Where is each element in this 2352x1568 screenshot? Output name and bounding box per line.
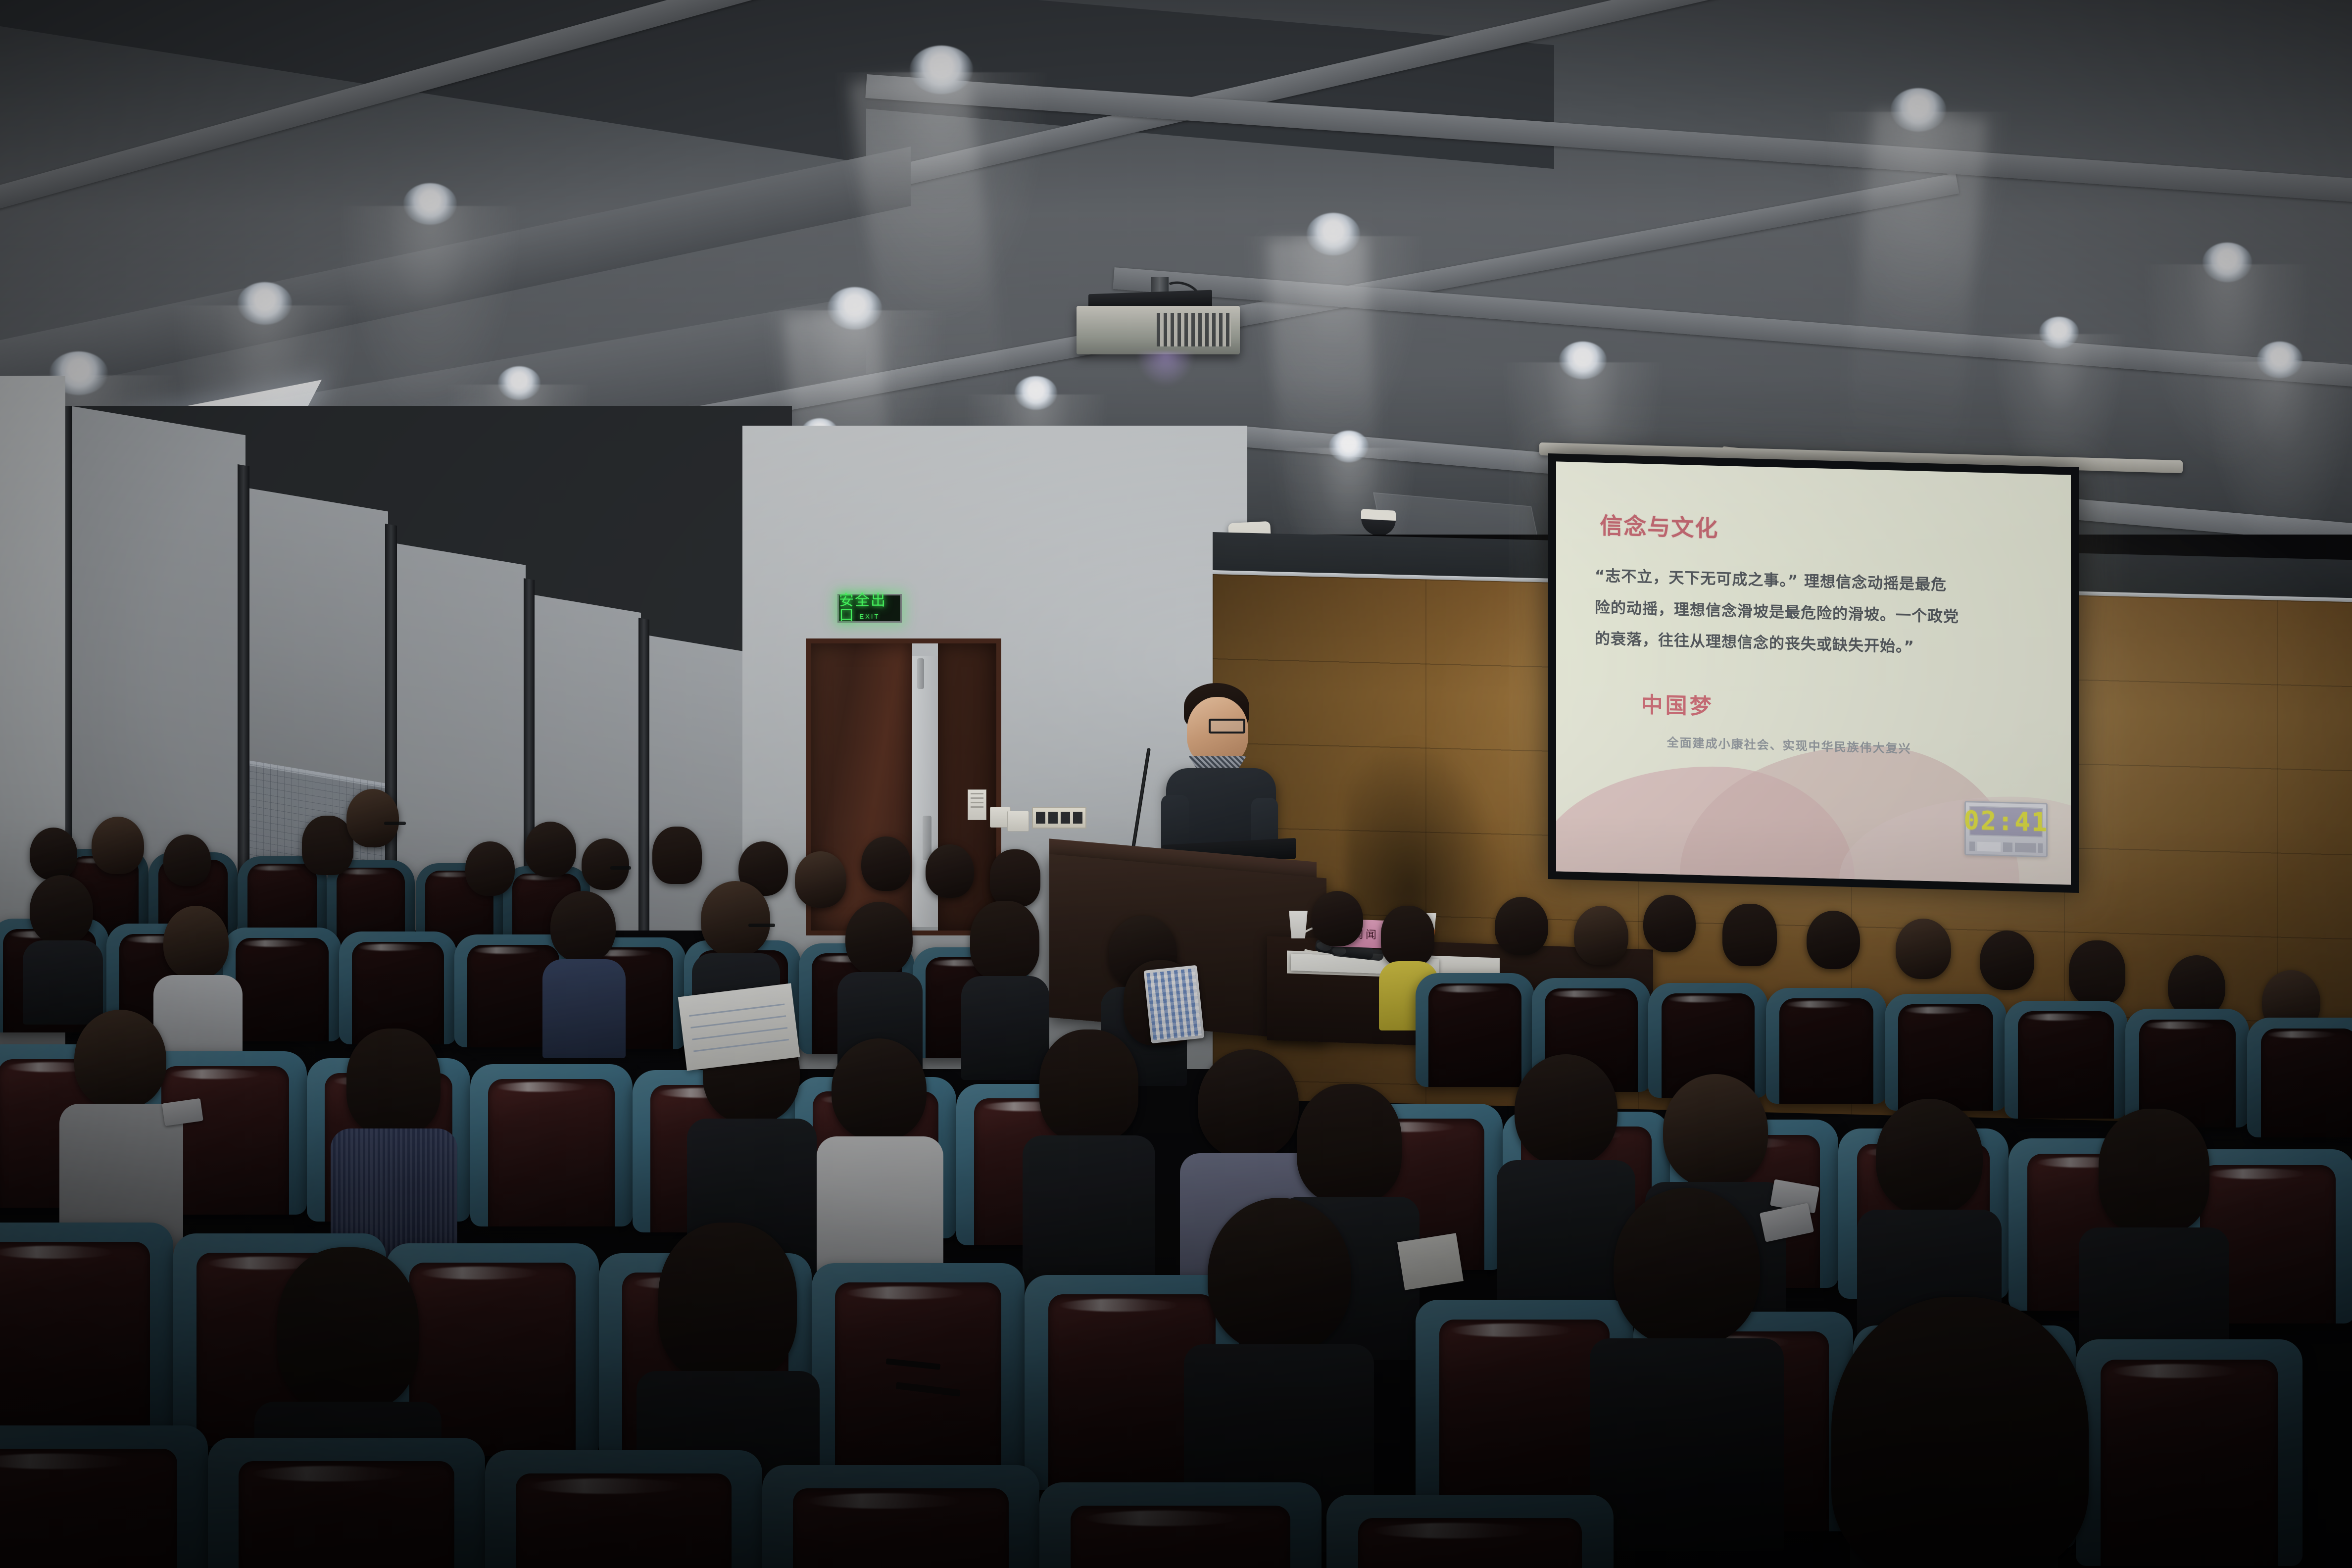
seat[interactable] (2005, 1001, 2127, 1119)
downlight (910, 46, 973, 94)
downlight (1329, 431, 1369, 462)
seat[interactable] (1416, 973, 1534, 1087)
exit-sign-english: EXIT (839, 613, 900, 620)
seat[interactable] (470, 1064, 633, 1226)
seat[interactable] (1885, 994, 2007, 1111)
seat[interactable] (1766, 988, 1887, 1104)
door-handle[interactable] (923, 816, 931, 860)
seat[interactable] (1326, 1495, 1614, 1568)
light-switch[interactable] (1007, 811, 1029, 832)
downlight (1307, 213, 1360, 255)
seat[interactable] (208, 1438, 485, 1568)
tablet-device[interactable] (1144, 965, 1205, 1043)
seat[interactable] (2076, 1339, 2303, 1566)
open-booklet[interactable] (678, 983, 800, 1071)
digital-clock-widget: 02:41 (1964, 801, 2048, 857)
wall-notice (968, 789, 986, 820)
seat[interactable] (2247, 1018, 2352, 1137)
seat[interactable] (1039, 1482, 1322, 1568)
clock-lcd: 02:41 (1969, 806, 2043, 837)
downlight (1015, 376, 1057, 410)
downlight (2039, 317, 2079, 348)
security-camera-icon (1361, 509, 1396, 535)
handheld-paper[interactable] (1397, 1233, 1464, 1290)
seat[interactable] (0, 1223, 173, 1435)
downlight (2257, 342, 2303, 378)
slide-title: 信念与文化 (1600, 508, 1718, 543)
seat[interactable] (485, 1450, 762, 1568)
downlight (2203, 243, 2252, 282)
door-hinge (917, 658, 924, 689)
slide-surface: 信念与文化 “志不立，天下无可成之事。” 理想信念动摇是最危 险的动摇，理想信念… (1556, 461, 2071, 884)
ceiling-vent (1373, 492, 1547, 535)
clock-time: 02:41 (1963, 806, 2049, 837)
presenter-glasses (1209, 719, 1245, 734)
seat[interactable] (0, 1425, 208, 1568)
downlight (498, 366, 540, 400)
downlight (1891, 88, 1946, 132)
exit-sign: 安全出口 EXIT (837, 594, 902, 623)
downlight (238, 282, 292, 325)
downlight (828, 287, 882, 330)
clock-footer (1969, 842, 2043, 853)
downlight (1559, 342, 1607, 379)
slide-subtitle: 中国梦 (1641, 687, 1714, 721)
slide-body-line-2: 险的动摇，理想信念滑坡是最危险的滑坡。一个政党 (1595, 594, 1959, 626)
seat[interactable] (339, 931, 457, 1044)
seat[interactable] (812, 1263, 1025, 1476)
projection-screen: 信念与文化 “志不立，天下无可成之事。” 理想信念动摇是最危 险的动摇，理想信念… (1548, 453, 2079, 893)
lecture-hall-photo: 安全出口 EXIT 信念与文化 “志不立，天下无可成之事。” 理想信念动摇是最危 (0, 0, 2352, 1568)
seat[interactable] (762, 1465, 1039, 1568)
slide-body-line-1: “志不立，天下无可成之事。” 理想信念动摇是最危 (1595, 563, 1947, 594)
window-blind[interactable] (249, 489, 388, 789)
power-outlet-strip[interactable] (1032, 807, 1086, 829)
slide-body-line-3: 的衰落，往往从理想信念的丧失或缺失开始。” (1595, 626, 1914, 657)
downlight (403, 183, 457, 225)
